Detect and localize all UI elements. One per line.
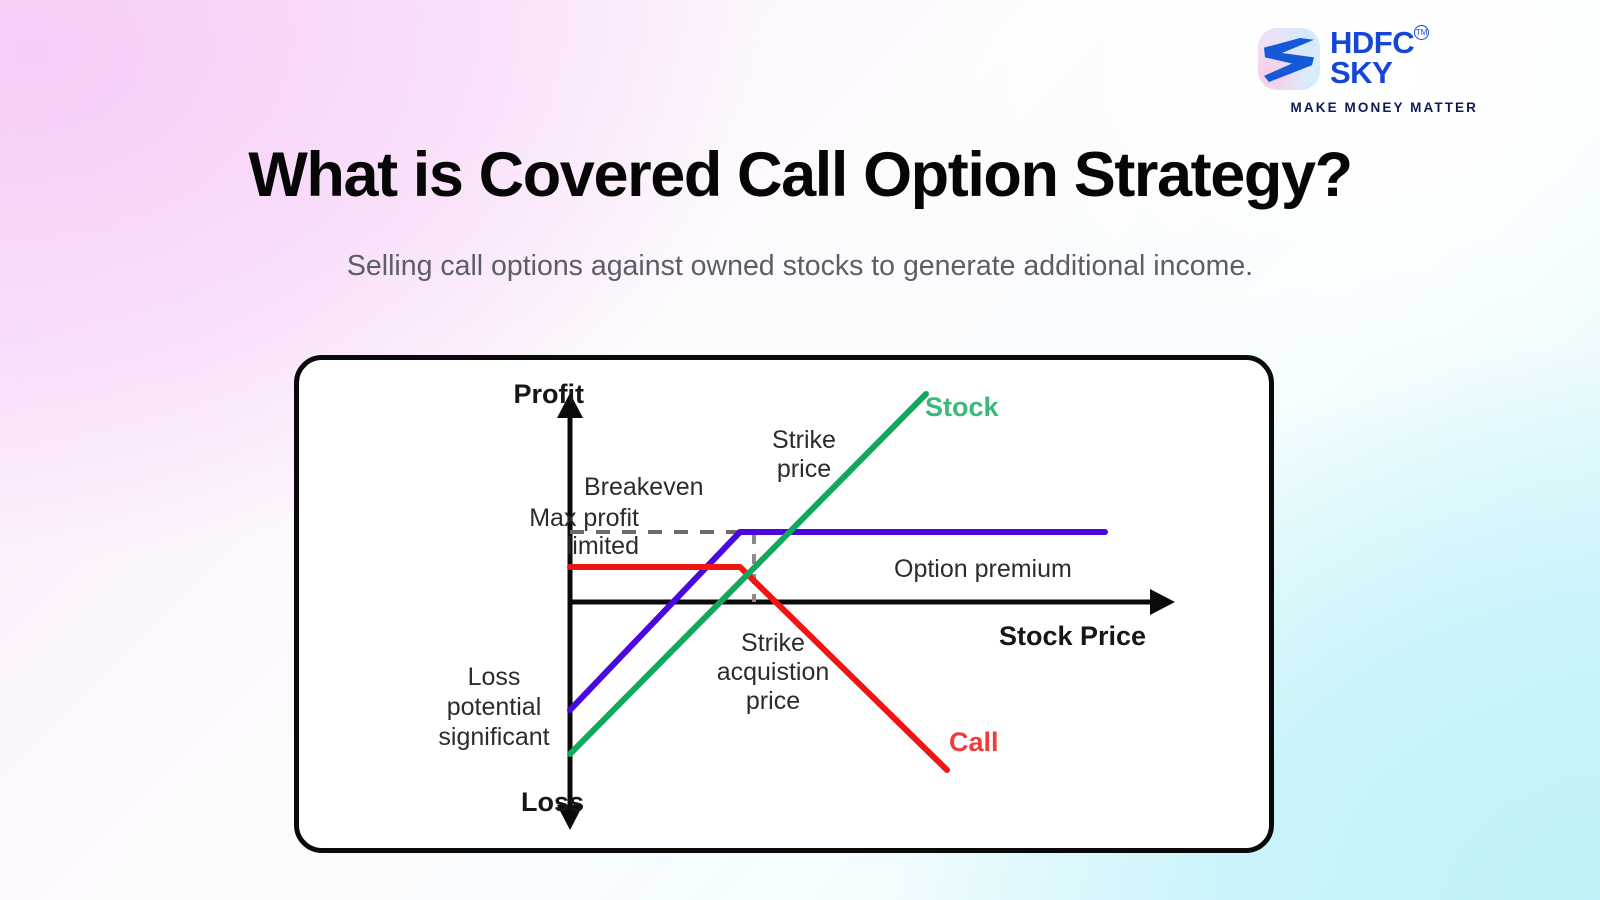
axis-label-loss: Loss [464,788,584,818]
brand-row: HDFC SKY TM [1258,28,1478,90]
brand-logo: HDFC SKY TM MAKE MONEY MATTER [1258,28,1478,138]
brand-wordmark: HDFC SKY TM [1330,28,1414,88]
legend-label-call: Call [949,728,999,758]
brand-name-line1: HDFC [1330,28,1414,58]
legend-label-stock: Stock [925,393,999,423]
payoff-chart: Profit Loss Stock Price Breakeven Max pr… [299,360,1269,848]
brand-tagline: MAKE MONEY MATTER [1258,100,1478,115]
annotation-loss-potential-significant: Loss potential significant [399,662,589,752]
annotation-breakeven: Breakeven [584,474,704,502]
axis-label-stock-price: Stock Price [999,622,1229,652]
axis-label-profit: Profit [454,380,584,410]
x-axis-right-arrow-icon [1150,589,1175,615]
brand-name-line2: SKY [1330,58,1414,88]
payoff-diagram-card: Profit Loss Stock Price Breakeven Max pr… [294,355,1274,853]
hdfc-sky-logo-icon [1258,28,1320,90]
annotation-max-profit-limited: Max profit limited [399,505,639,560]
page-title: What is Covered Call Option Strategy? [0,142,1600,209]
trademark-icon: TM [1414,25,1429,40]
annotation-strike-acquisition-price: Strike acquistion price [663,629,883,716]
annotation-option-premium: Option premium [894,556,1072,584]
page-subtitle: Selling call options against owned stock… [300,246,1300,286]
annotation-strike-price: Strike price [749,426,859,484]
